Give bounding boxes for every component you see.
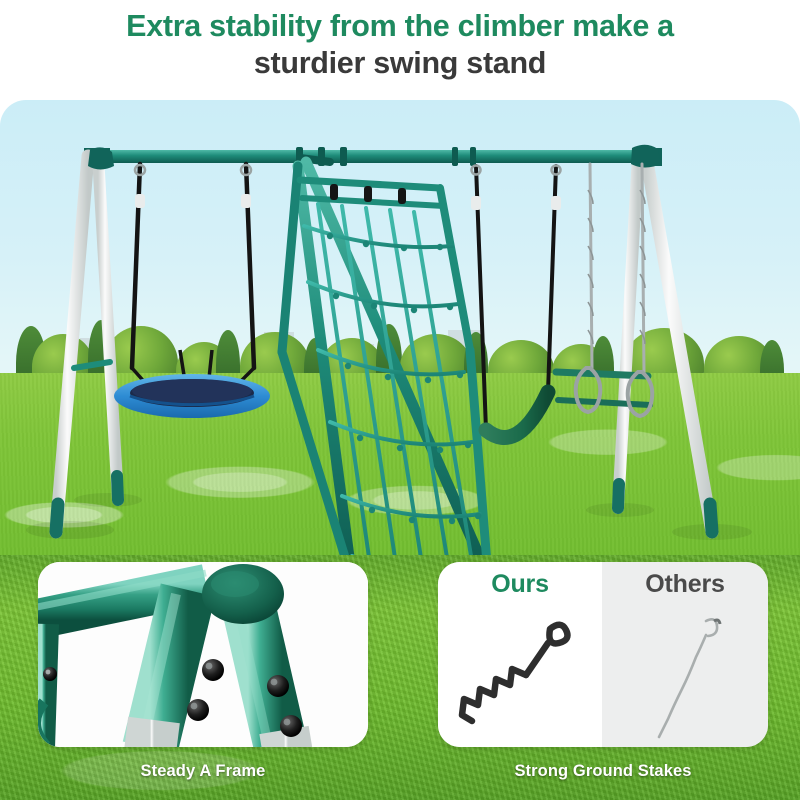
others-label: Others [645,570,724,599]
ours-stake-art [438,599,602,747]
caption-steady-a-frame: Steady A Frame [38,762,368,781]
corkscrew-spiral-stake-icon [438,599,602,741]
hero-product-photo [0,100,800,555]
a-frame-joint-illustration [38,562,368,747]
thin-straight-wire-stake-icon [602,599,768,741]
headline-line-2: sturdier swing stand [0,45,800,82]
ground-stake-comparison-card: Ours Others [438,562,768,747]
comparison-others-panel: Others [602,562,768,747]
headline-line-1: Extra stability from the climber make a [0,8,800,45]
ours-label: Ours [491,570,549,599]
steady-a-frame-card [38,562,368,747]
comparison-ours-panel: Ours [438,562,602,747]
swing-set-structure [0,100,800,555]
caption-strong-ground-stakes: Strong Ground Stakes [438,762,768,781]
others-stake-art [602,599,768,747]
a-frame-joint-photo [38,562,368,747]
page-title: Extra stability from the climber make a … [0,8,800,82]
